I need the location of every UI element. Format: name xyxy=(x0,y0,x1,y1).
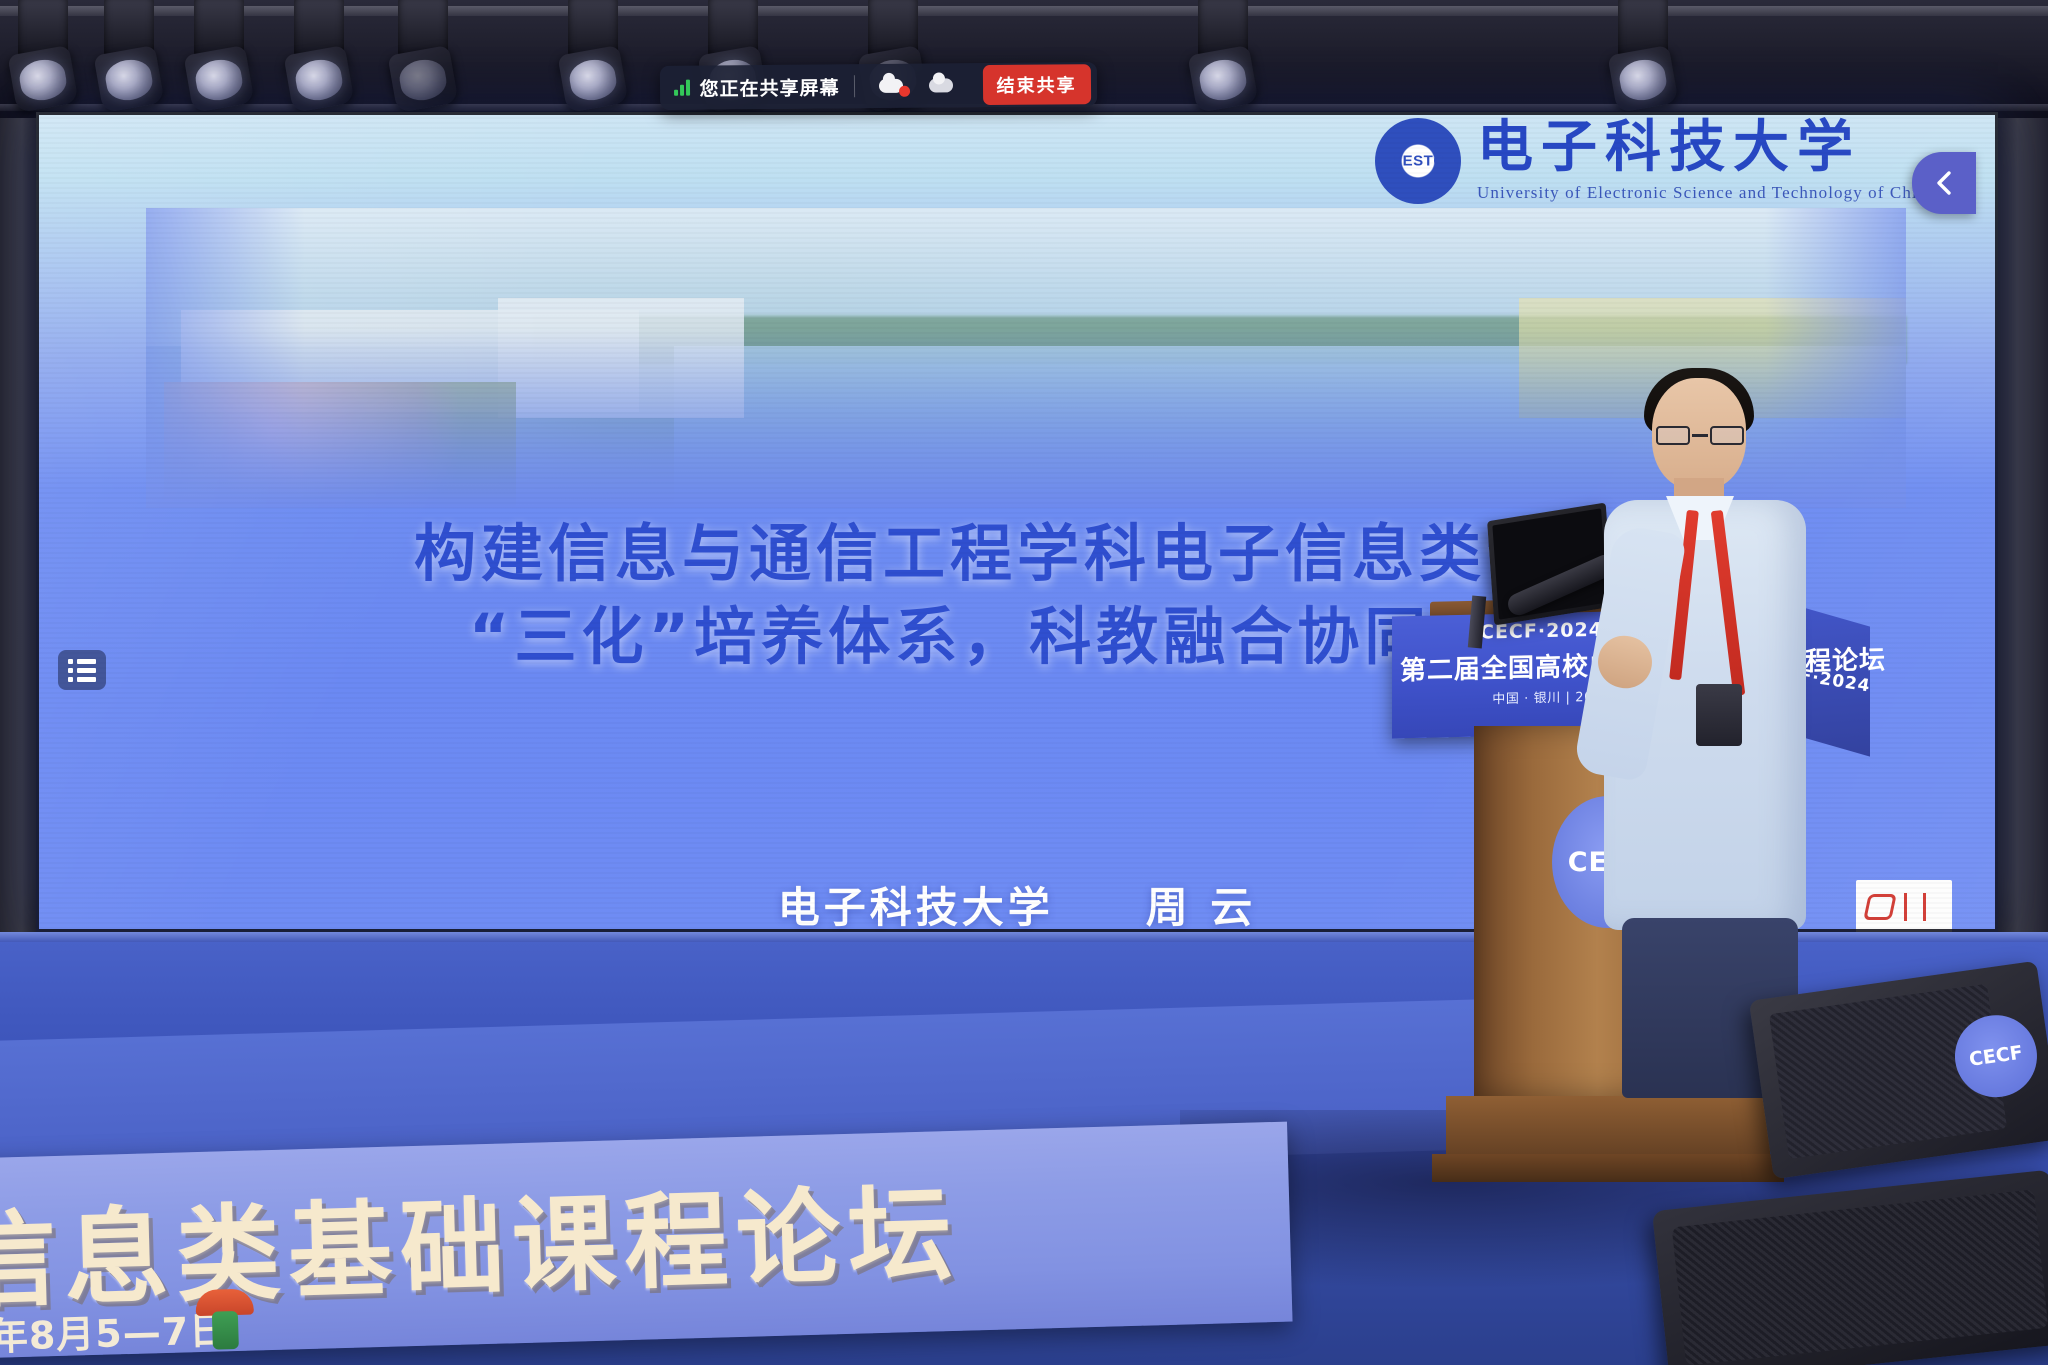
forum-stage-banner: 信息类基础课程论坛 4年8月5—7日 xyxy=(0,1122,1293,1359)
signal-bars-icon xyxy=(674,80,690,96)
toolbar-divider xyxy=(853,75,854,97)
uestc-name-en: University of Electronic Science and Tec… xyxy=(1477,183,1936,203)
uestc-name-cn: 电子科技大学 xyxy=(1477,119,1936,175)
podium-plinth xyxy=(1432,1154,1784,1182)
stage-light xyxy=(286,0,352,114)
eyeglasses-icon xyxy=(1654,426,1746,446)
stage-light xyxy=(10,0,76,114)
stage-light xyxy=(560,0,626,114)
slide-title-line1: 构建信息与通信工程学科电子信息类专业 xyxy=(414,517,1620,590)
chevron-left-icon[interactable] xyxy=(1912,152,1976,214)
share-status-label: 您正在共享屏幕 xyxy=(699,73,839,101)
monitor-emblem-text: CECF xyxy=(1968,1042,2024,1071)
forum-banner-emblem-icon xyxy=(191,1284,259,1352)
stage-light xyxy=(1610,0,1676,114)
speaker xyxy=(1600,378,1810,1078)
stage-light xyxy=(1190,0,1256,114)
screen-share-toolbar[interactable]: 您正在共享屏幕 结束共享 xyxy=(660,62,1097,110)
cloud-icon[interactable] xyxy=(928,74,958,96)
uestc-logo: 电子科技大学 University of Electronic Science … xyxy=(1375,118,1936,204)
badge-holder xyxy=(1696,684,1742,746)
stage-light xyxy=(96,0,162,114)
presentation-photo: 电子科技大学 University of Electronic Science … xyxy=(0,0,2048,1365)
stop-share-button[interactable]: 结束共享 xyxy=(982,64,1090,105)
stage-light xyxy=(390,0,456,114)
stage-light xyxy=(186,0,252,114)
cloud-record-icon[interactable] xyxy=(878,75,908,97)
list-menu-icon[interactable] xyxy=(58,650,106,690)
uestc-seal-icon xyxy=(1375,118,1461,204)
red-stamp-mark xyxy=(1856,880,1952,932)
